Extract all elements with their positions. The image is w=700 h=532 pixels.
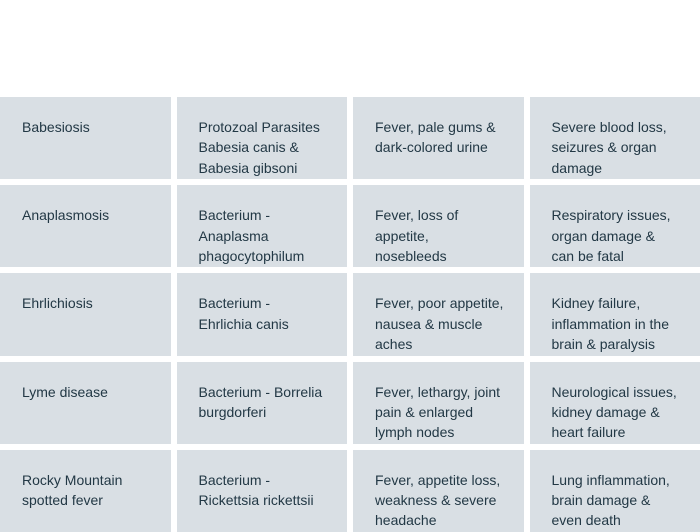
cell-consequences: Lung inflammation, brain damage & even d…	[530, 450, 700, 532]
cell-symptoms: Fever, appetite loss, weakness & severe …	[353, 450, 524, 532]
table-row: Babesiosis Protozoal Parasites Babesia c…	[0, 97, 700, 179]
cell-symptoms: Fever, lethargy, joint pain & enlarged l…	[353, 362, 524, 444]
table-row: Ehrlichiosis Bacterium - Ehrlichia canis…	[0, 273, 700, 355]
cell-disease: Anaplasmosis	[0, 185, 171, 267]
column-header-symptoms: SYMPTOMS	[353, 0, 524, 91]
table-row: Anaplasmosis Bacterium - Anaplasma phago…	[0, 185, 700, 267]
table-row: Lyme disease Bacterium - Borrelia burgdo…	[0, 362, 700, 444]
cell-disease: Ehrlichiosis	[0, 273, 171, 355]
cell-cause: Protozoal Parasites Babesia canis & Babe…	[177, 97, 348, 179]
cell-consequences: Neurological issues, kidney damage & hea…	[530, 362, 700, 444]
cell-cause: Bacterium - Anaplasma phagocytophilum	[177, 185, 348, 267]
table-row: Rocky Mountain spotted fever Bacterium -…	[0, 450, 700, 532]
cell-cause: Bacterium - Rickettsia rickettsii	[177, 450, 348, 532]
cell-cause: Bacterium - Borrelia burgdorferi	[177, 362, 348, 444]
cell-consequences: Severe blood loss, seizures & organ dama…	[530, 97, 700, 179]
column-header-consequences: CONSEQUENCES	[530, 0, 700, 91]
cell-cause: Bacterium - Ehrlichia canis	[177, 273, 348, 355]
tick-borne-disease-table: DISEASE CAUSE SYMPTOMS CONSEQUENCES Babe…	[0, 0, 700, 532]
cell-symptoms: Fever, pale gums & dark-colored urine	[353, 97, 524, 179]
cell-consequences: Kidney failure, inflammation in the brai…	[530, 273, 700, 355]
cell-consequences: Respiratory issues, organ damage & can b…	[530, 185, 700, 267]
cell-disease: Babesiosis	[0, 97, 171, 179]
cell-disease: Lyme disease	[0, 362, 171, 444]
cell-disease: Rocky Mountain spotted fever	[0, 450, 171, 532]
cell-symptoms: Fever, loss of appetite, nosebleeds & jo…	[353, 185, 524, 267]
column-header-cause: CAUSE	[177, 0, 348, 91]
cell-symptoms: Fever, poor appetite, nausea & muscle ac…	[353, 273, 524, 355]
column-header-disease: DISEASE	[0, 0, 171, 91]
table-header-row: DISEASE CAUSE SYMPTOMS CONSEQUENCES	[0, 0, 700, 91]
